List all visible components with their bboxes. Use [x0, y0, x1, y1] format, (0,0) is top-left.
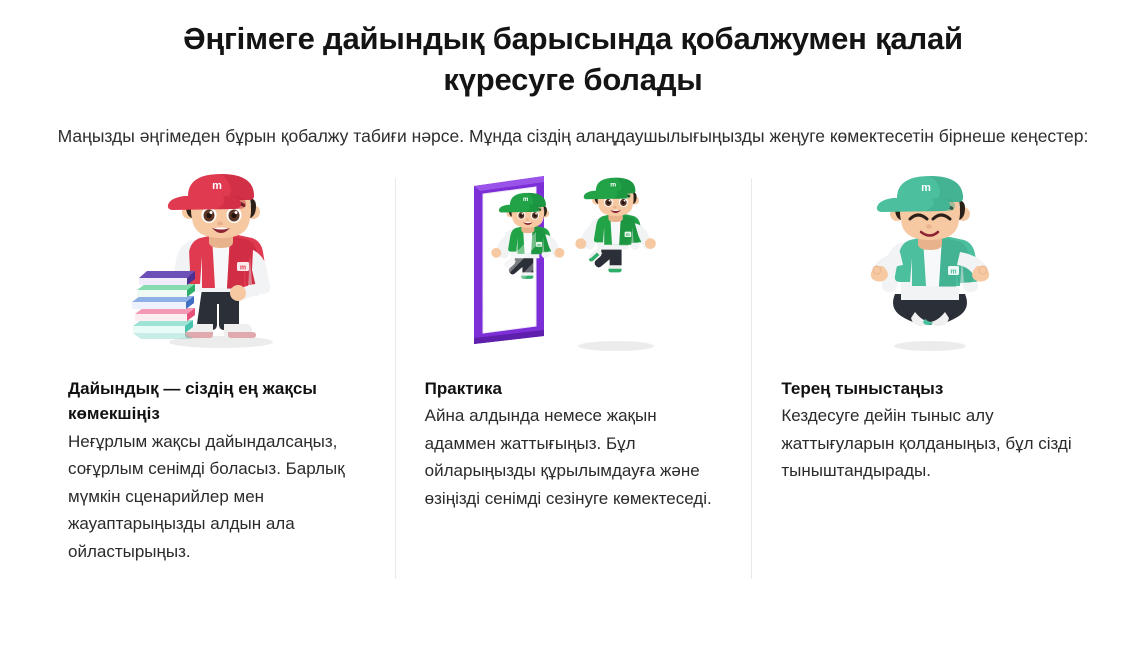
tip-body-deep-breathing: Кездесуге дейін тыныс алу жаттығуларын қ…	[781, 402, 1078, 485]
svg-text:m: m	[523, 197, 528, 203]
tip-body-preparation: Неғұрлым жақсы дайындалсаңыз, соғұрлым с…	[68, 428, 365, 566]
tips-columns: m	[0, 172, 1146, 566]
illustration-boy-red-cap-with-books: m	[68, 172, 365, 354]
svg-text:m: m	[212, 180, 222, 192]
svg-text:m: m	[240, 264, 246, 271]
illustration-boy-teal-cap-meditating: m	[781, 172, 1078, 354]
tip-heading-practice: Практика	[425, 376, 722, 402]
tip-card-deep-breathing: m	[751, 172, 1108, 566]
svg-text:m: m	[610, 181, 616, 188]
tip-body-practice: Айна алдында немесе жақын адаммен жаттығ…	[425, 402, 722, 512]
svg-text:m: m	[950, 268, 956, 275]
svg-text:m: m	[626, 232, 630, 237]
svg-text:m: m	[921, 182, 931, 194]
illustration-boy-green-cap-with-mirror: m	[425, 172, 722, 354]
page-subtitle: Маңызды әңгімеден бұрын қобалжу табиғи н…	[0, 100, 1146, 149]
tip-card-practice: m	[395, 172, 752, 566]
tip-card-preparation: m	[38, 172, 395, 566]
tip-heading-preparation: Дайындық — сіздің ең жақсы көмекшіңіз	[68, 376, 365, 427]
page-title: Әңгімеге дайындық барысында қобалжумен қ…	[0, 0, 1146, 100]
tip-heading-deep-breathing: Терең тыныстаңыз	[781, 376, 1078, 402]
